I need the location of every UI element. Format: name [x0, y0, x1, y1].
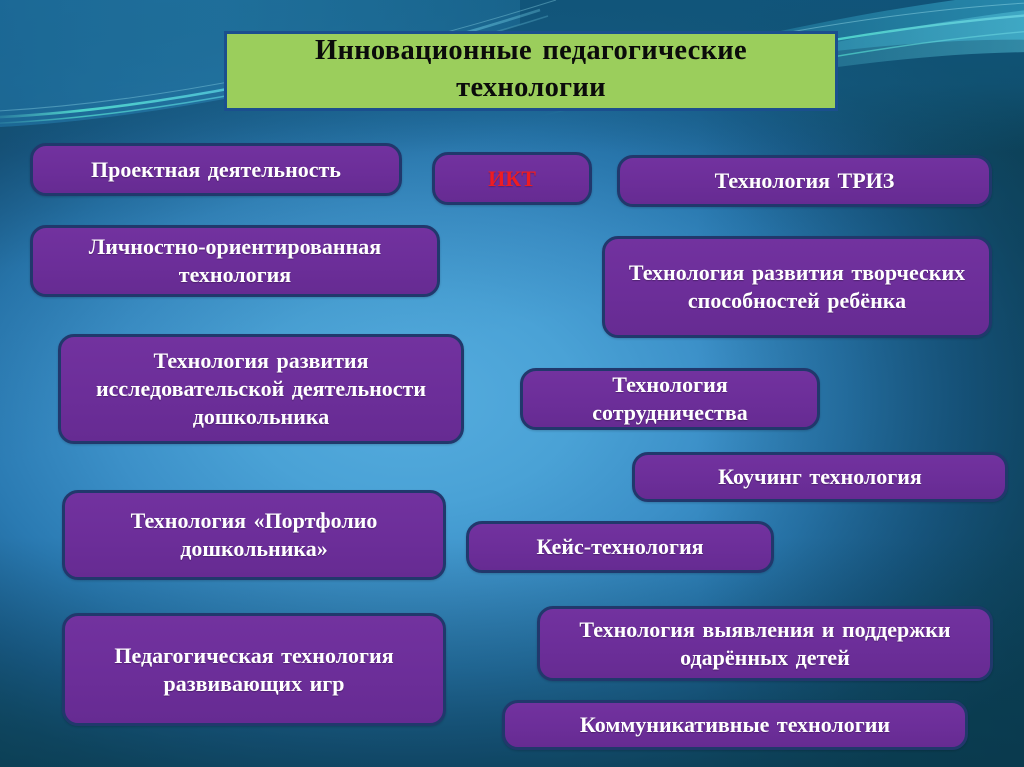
technology-label: Технология ТРИЗ — [715, 167, 895, 195]
technology-label: Технология развития исследовательской де… — [73, 347, 449, 430]
technology-label: Кейс-технология — [536, 533, 703, 561]
technology-label: Технология выявления и поддержки одарённ… — [552, 616, 978, 671]
technology-label: Коммуникативные технологии — [580, 711, 890, 739]
technology-label: Педагогическая технология развивающих иг… — [77, 642, 431, 697]
technology-box-communicative[interactable]: Коммуникативные технологии — [502, 700, 968, 750]
technology-box-triz[interactable]: Технология ТРИЗ — [617, 155, 992, 207]
technology-box-person-oriented[interactable]: Личностно-ориентированная технология — [30, 225, 440, 297]
technology-box-coaching[interactable]: Коучинг технология — [632, 452, 1008, 502]
technology-label: ИКТ — [488, 165, 536, 193]
presentation-slide: Инновационные педагогические технологии … — [0, 0, 1024, 767]
slide-title: Инновационные педагогические технологии — [237, 32, 825, 106]
technology-box-research-activity[interactable]: Технология развития исследовательской де… — [58, 334, 464, 444]
technology-label: Коучинг технология — [718, 463, 922, 491]
technology-box-gifted-children[interactable]: Технология выявления и поддержки одарённ… — [537, 606, 993, 681]
technology-box-case[interactable]: Кейс-технология — [466, 521, 774, 573]
slide-title-box: Инновационные педагогические технологии — [224, 31, 838, 111]
technology-box-creative-abilities[interactable]: Технология развития творческих способнос… — [602, 236, 992, 338]
technology-label: Личностно-ориентированная технология — [45, 233, 425, 288]
technology-label: Технология сотрудничества — [535, 371, 805, 426]
technology-label: Проектная деятельность — [91, 156, 341, 184]
technology-box-ikt[interactable]: ИКТ — [432, 152, 592, 205]
technology-label: Технология «Портфолио дошкольника» — [77, 507, 431, 562]
technology-box-project-activity[interactable]: Проектная деятельность — [30, 143, 402, 196]
technology-box-cooperation[interactable]: Технология сотрудничества — [520, 368, 820, 430]
technology-box-developing-games[interactable]: Педагогическая технология развивающих иг… — [62, 613, 446, 726]
technology-box-portfolio[interactable]: Технология «Портфолио дошкольника» — [62, 490, 446, 580]
technology-label: Технология развития творческих способнос… — [617, 259, 977, 314]
